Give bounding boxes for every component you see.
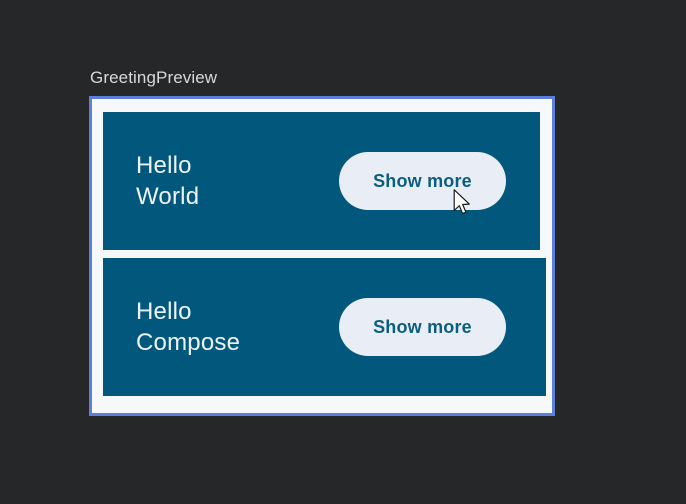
greeting-card[interactable]: Hello Compose Show more <box>103 258 546 396</box>
show-more-button[interactable]: Show more <box>339 298 506 356</box>
greeting-text: Hello World <box>136 150 199 212</box>
preview-frame[interactable]: Hello World Show more Hello Compose Show… <box>89 96 555 416</box>
preview-surface: Hello World Show more Hello Compose Show… <box>92 99 552 413</box>
show-more-button[interactable]: Show more <box>339 152 506 210</box>
preview-title: GreetingPreview <box>90 67 217 89</box>
greeting-card[interactable]: Hello World Show more <box>103 112 540 250</box>
preview-root: GreetingPreview Hello World Show more He… <box>0 0 686 504</box>
greeting-text: Hello Compose <box>136 296 240 358</box>
